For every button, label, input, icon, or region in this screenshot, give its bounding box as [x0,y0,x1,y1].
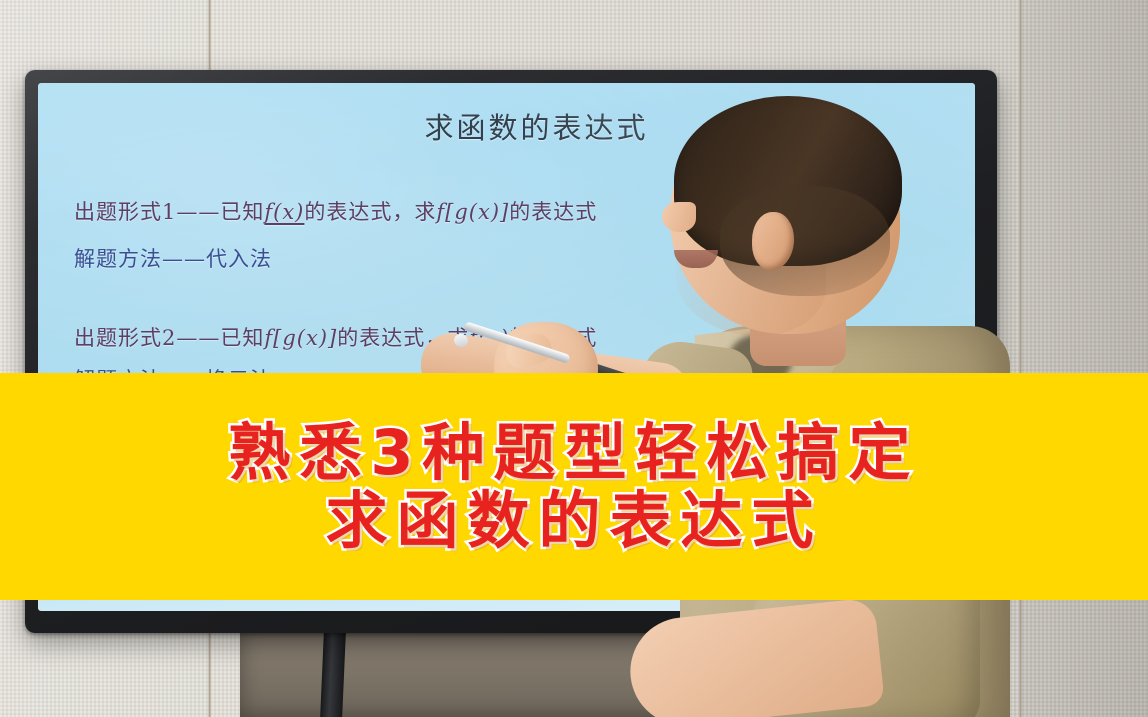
caption-banner: 熟悉3种题型轻松搞定 求函数的表达式 [0,373,1148,600]
slide-line-form-1: 出题形式1——已知f(x)的表达式，求f[g(x)]的表达式 [74,196,597,226]
formula-fgx-2: f[g(x)] [264,326,337,350]
presenter-nose [662,202,696,232]
monitor-stand-leg-left [320,633,346,717]
slide-line-method-1: 解题方法——代入法 [74,243,272,273]
presenter-forearm-lower [625,597,885,717]
caption-line-2: 求函数的表达式 [325,488,822,554]
video-thumbnail-frame: reoak 求函数的表达式 出题形式1——已知f(x)的表达式，求f[g(x)]… [0,0,1148,717]
caption-line-1: 熟悉3种题型轻松搞定 [228,420,919,486]
presenter-hair-fade [720,186,890,296]
formula-fx-underlined: f(x) [264,200,304,224]
wall-panel [1022,0,1148,717]
formula-fgx: f[g(x)] [436,200,509,224]
